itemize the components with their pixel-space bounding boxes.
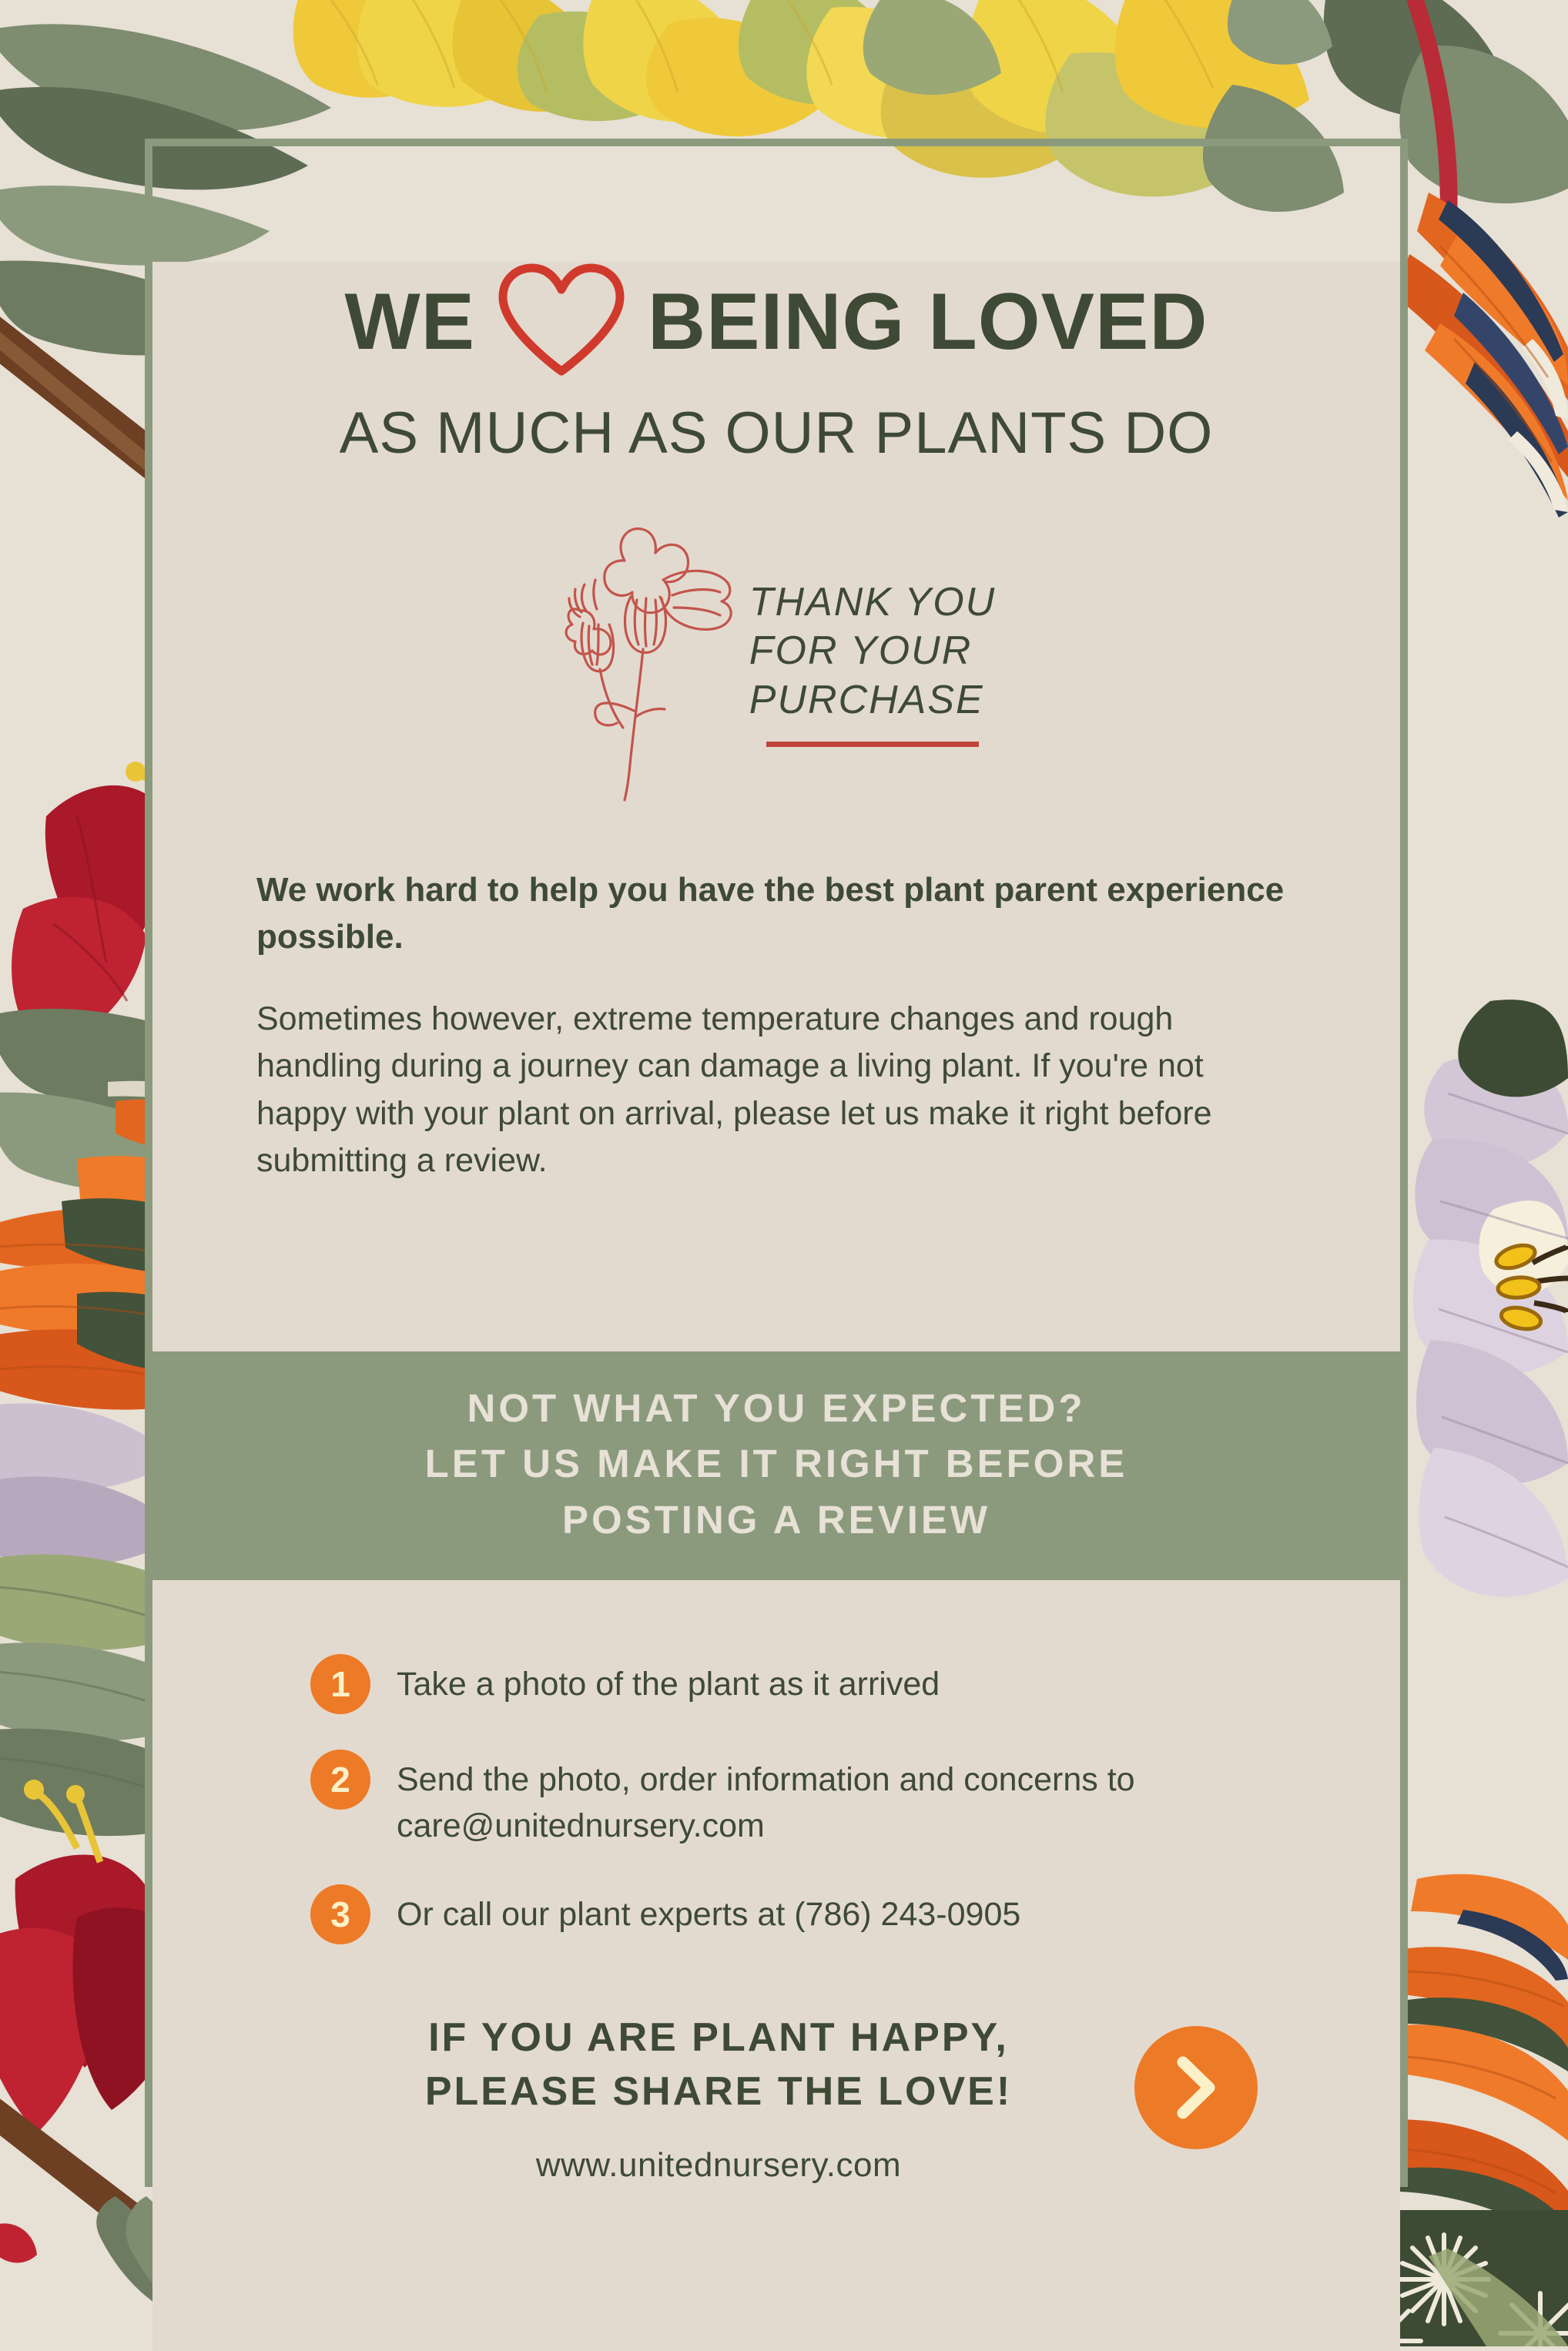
flower-line-art-icon [557,518,734,807]
step-text: Or call our plant experts at (786) 243-0… [397,1884,1020,1937]
card-top-section: WE BEING LOVED AS MUCH AS OUR PLANTS DO [152,262,1400,1351]
banner-line-2: LET US MAKE IT RIGHT BEFORE [152,1436,1400,1492]
step-text: Take a photo of the plant as it arrived [397,1654,940,1707]
list-item: 1 Take a photo of the plant as it arrive… [310,1654,1308,1714]
heart-icon [495,262,628,381]
subheadline: AS MUCH AS OUR PLANTS DO [152,404,1400,463]
banner-line-3: POSTING A REVIEW [152,1492,1400,1548]
steps-list: 1 Take a photo of the plant as it arrive… [152,1654,1400,1944]
list-item: 2 Send the photo, order information and … [310,1750,1308,1849]
website-url[interactable]: www.unitednursery.com [245,2146,1192,2185]
banner-line-1: NOT WHAT YOU EXPECTED? [152,1381,1400,1436]
thank-you-card: WE BEING LOVED AS MUCH AS OUR PLANTS DO [145,139,1408,2187]
step-text: Send the photo, order information and co… [397,1750,1308,1849]
callout-banner: NOT WHAT YOU EXPECTED? LET US MAKE IT RI… [152,1351,1400,1580]
chevron-right-icon [1172,2056,1220,2119]
step-number-badge: 1 [310,1654,370,1714]
thank-you-block: THANK YOU FOR YOUR PURCHASE [152,518,1400,807]
step-number-badge: 3 [310,1884,370,1944]
list-item: 3 Or call our plant experts at (786) 243… [310,1884,1308,1944]
thank-you-line-3: PURCHASE [749,676,996,725]
footer-line-2: PLEASE SHARE THE LOVE! [245,2065,1192,2118]
thank-you-line-1: THANK YOU [749,578,996,627]
thank-you-divider [766,742,979,747]
card-bottom-section: 1 Take a photo of the plant as it arrive… [152,1580,1400,2351]
body-paragraph: Sometimes however, extreme temperature c… [256,996,1296,1184]
footer-line-1: IF YOU ARE PLANT HAPPY, [245,2011,1192,2065]
headline-word-we: WE [344,282,475,362]
headline-word-being-loved: BEING LOVED [648,282,1208,362]
headline: WE BEING LOVED [152,262,1400,381]
thank-you-line-2: FOR YOUR [749,627,996,675]
body-copy: We work hard to help you have the best p… [152,867,1400,1184]
body-bold-statement: We work hard to help you have the best p… [256,867,1296,960]
step-number-badge: 2 [310,1750,370,1810]
footer: IF YOU ARE PLANT HAPPY, PLEASE SHARE THE… [152,2011,1400,2185]
next-arrow-button[interactable] [1134,2026,1258,2149]
